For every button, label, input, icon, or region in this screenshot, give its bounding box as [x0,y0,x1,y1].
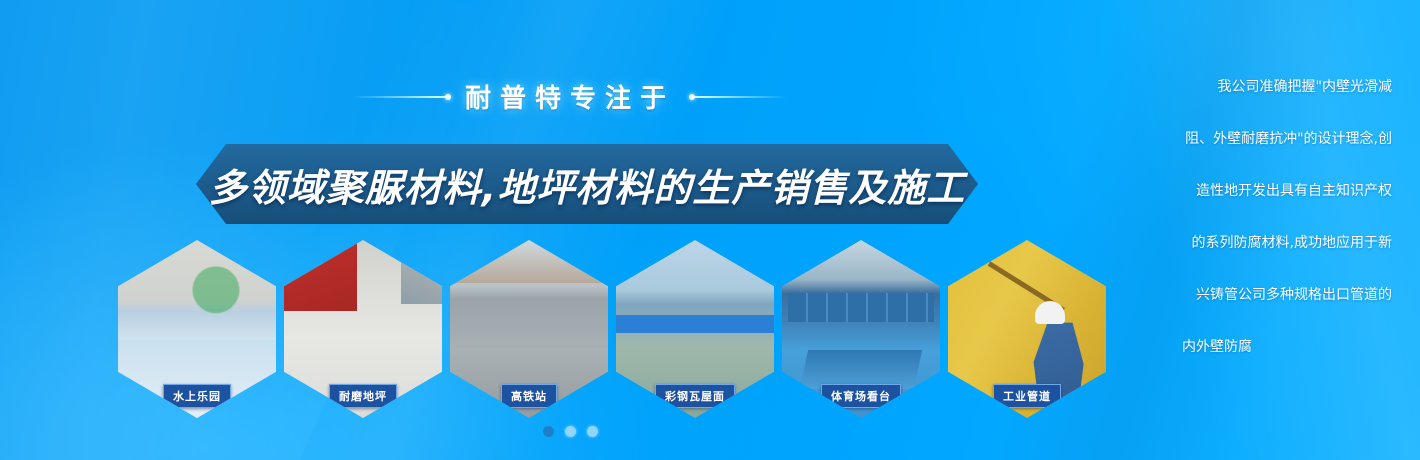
hexagon-gallery: 水上乐园 耐磨地坪 高铁站 彩钢瓦屋面 体育场看台 工业管道 [118,240,1128,420]
description-line: 内外壁防腐 [1178,340,1392,354]
divider-dot-icon [445,94,451,100]
divider-line-right [691,96,787,98]
safety-helmet-icon [1035,301,1065,324]
description-line: 阻、外壁耐磨抗冲"的设计理念,创 [1178,132,1392,146]
headline-ribbon: 多领域聚脲材料,地坪材料的生产销售及施工 [196,144,978,224]
hero-banner: 耐普特专注于 多领域聚脲材料,地坪材料的生产销售及施工 水上乐园 耐磨地坪 高铁… [0,0,1420,460]
hexagon-label: 高铁站 [501,384,557,408]
description-line: 的系列防腐材料,成功地应用于新 [1178,236,1392,250]
carousel-dot-2[interactable] [565,426,576,437]
hexagon-label: 彩钢瓦屋面 [655,384,735,408]
hexagon-item-industrial-pipeline[interactable]: 工业管道 [948,240,1106,418]
description-line: 兴铸管公司多种规格出口管道的 [1178,288,1392,302]
carousel-dot-1[interactable] [543,426,554,437]
carousel-pagination [0,426,1420,437]
description-column: 我公司准确把握"内壁光滑减 阻、外壁耐磨抗冲"的设计理念,创 造性地开发出具有自… [1178,80,1392,354]
divider-dot-icon [689,94,695,100]
hexagon-label: 工业管道 [993,384,1061,408]
divider-line-left [353,96,449,98]
hexagon-label: 体育场看台 [821,384,901,408]
carousel-dot-3[interactable] [587,426,598,437]
hexagon-item-steel-tile-roof[interactable]: 彩钢瓦屋面 [616,240,774,418]
hexagon-label: 耐磨地坪 [329,384,397,408]
eyebrow-text: 耐普特专注于 [465,78,675,115]
description-line: 造性地开发出具有自主知识产权 [1178,184,1392,198]
hexagon-item-high-speed-rail-station[interactable]: 高铁站 [450,240,608,418]
hexagon-item-water-park[interactable]: 水上乐园 [118,240,276,418]
hexagon-label: 水上乐园 [163,384,231,408]
page-title: 多领域聚脲材料,地坪材料的生产销售及施工 [209,157,965,212]
hexagon-item-stadium-grandstand[interactable]: 体育场看台 [782,240,940,418]
description-line: 我公司准确把握"内壁光滑减 [1178,80,1392,94]
eyebrow-row: 耐普特专注于 [0,78,1140,115]
hexagon-item-wear-resistant-floor[interactable]: 耐磨地坪 [284,240,442,418]
